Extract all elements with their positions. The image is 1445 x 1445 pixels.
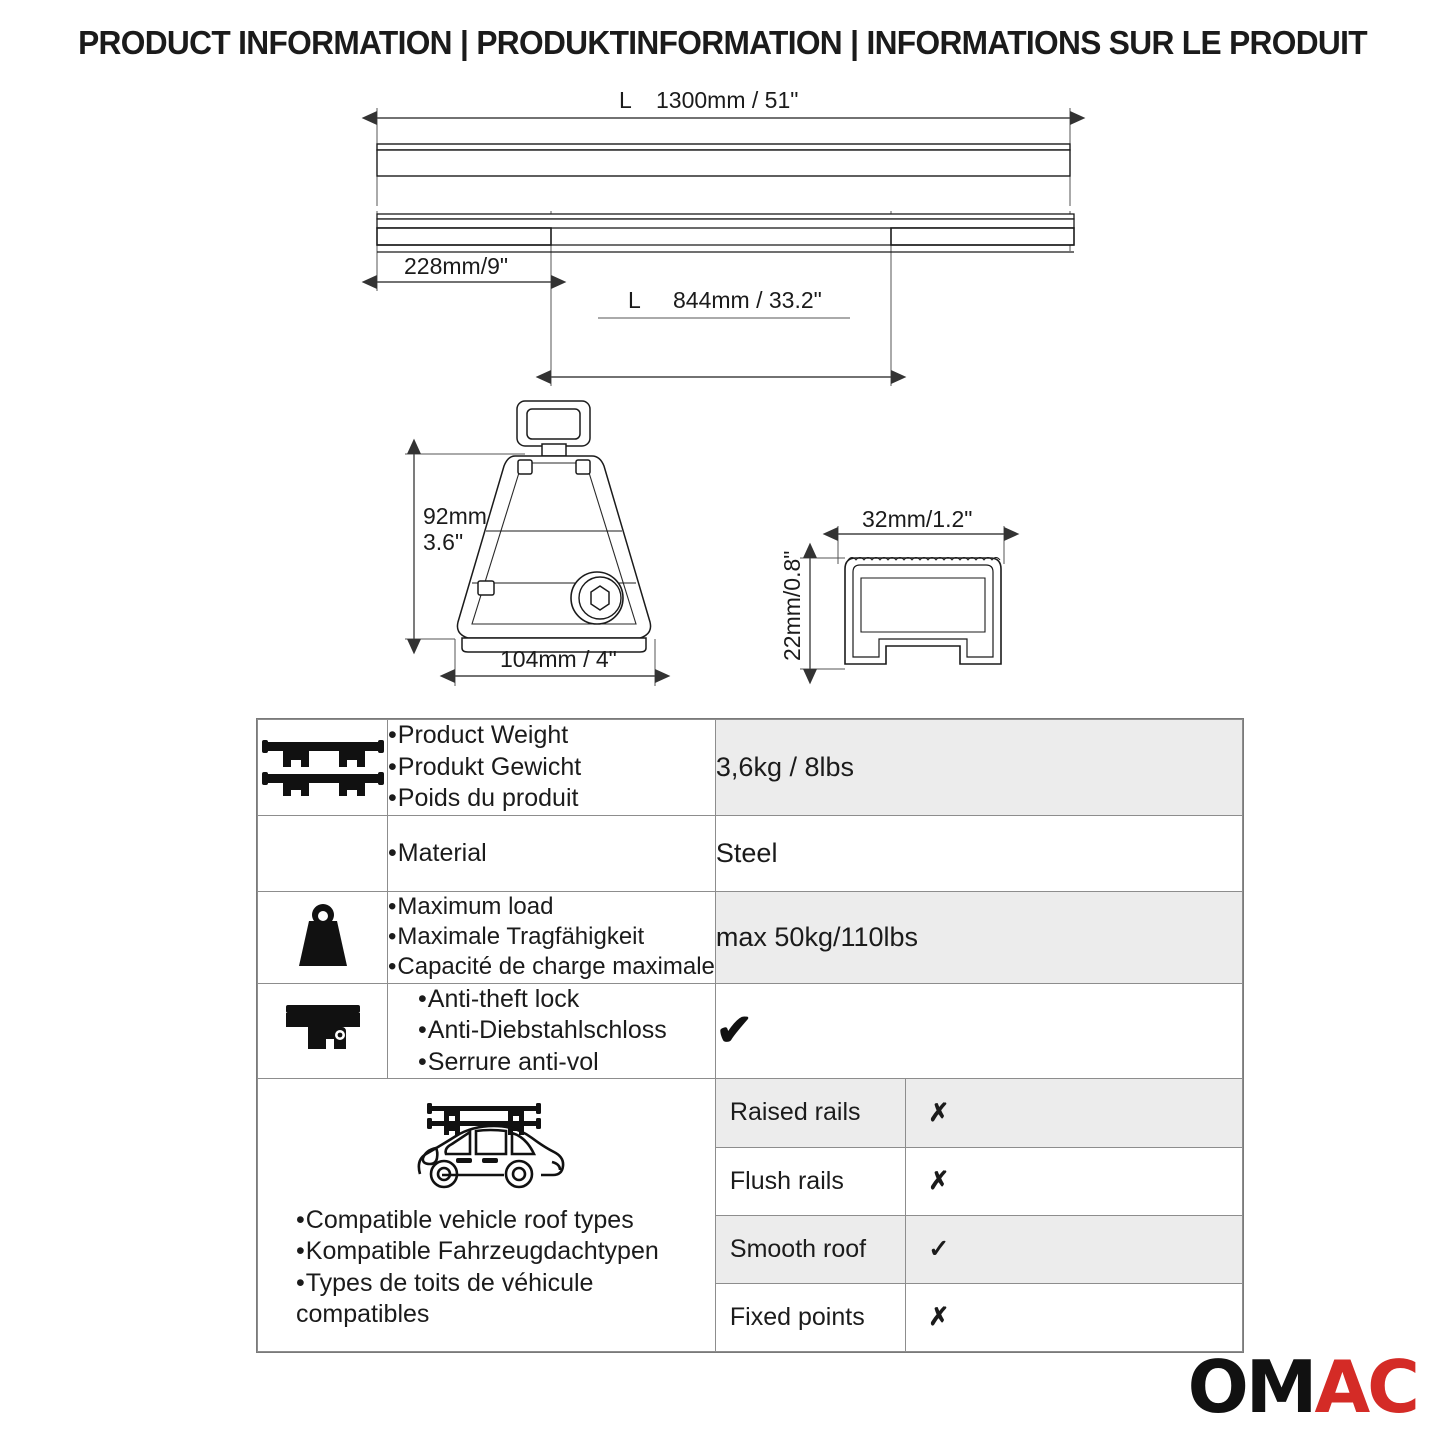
page-title: PRODUCT INFORMATION | PRODUKTINFORMATION… (29, 24, 1416, 62)
roof-type-support: ✗ (906, 1079, 1242, 1147)
lock-icon-cell (258, 983, 388, 1079)
roof-type-name: Raised rails (716, 1079, 906, 1147)
span-value: 844mm / 33.2" (673, 287, 822, 313)
label-de: Anti-Diebstahlschloss (418, 1015, 715, 1047)
max-load-labels: Maximum load Maximale Tragfähigkeit Capa… (388, 892, 716, 984)
label-de: Kompatible Fahrzeugdachtypen (296, 1236, 715, 1267)
anti-theft-value: ✔ (715, 983, 1242, 1079)
roof-type-row-raised-rails: Raised rails ✗ (716, 1079, 1242, 1147)
max-load-value: max 50kg/110lbs (715, 892, 1242, 984)
label-material: Material (388, 838, 715, 870)
vehicle-roof-types-cell: Compatible vehicle roof types Kompatible… (258, 1079, 716, 1352)
lock-icon (284, 1042, 362, 1059)
product-weight-value: 3,6kg / 8lbs (715, 720, 1242, 816)
label-en: Maximum load (388, 892, 715, 922)
table-row-max-load: Maximum load Maximale Tragfähigkeit Capa… (258, 892, 1243, 984)
material-value: Steel (715, 815, 1242, 892)
crossbars-icon-cell (258, 720, 388, 816)
label-en: Anti-theft lock (418, 984, 715, 1016)
label-en: Compatible vehicle roof types (296, 1205, 715, 1236)
logo-text-om: OM (1188, 1351, 1315, 1423)
span-prefix: L (628, 287, 641, 313)
bar-length-value: 1300mm / 51" (656, 87, 798, 113)
table-row-material: Material Steel (258, 815, 1243, 892)
label-fr: Capacité de charge maximale (388, 952, 715, 982)
label-de: Produkt Gewicht (388, 752, 715, 784)
table-row-anti-theft-lock: Anti-theft lock Anti-Diebstahlschloss Se… (258, 983, 1243, 1079)
table-row-roof-types: Compatible vehicle roof types Kompatible… (258, 1079, 1243, 1352)
table-row-product-weight: Product Weight Produkt Gewicht Poids du … (258, 720, 1243, 816)
roof-type-support: ✗ (906, 1147, 1242, 1215)
product-weight-labels: Product Weight Produkt Gewicht Poids du … (388, 720, 716, 816)
roof-type-row-flush-rails: Flush rails ✗ (716, 1147, 1242, 1215)
label-en: Product Weight (388, 720, 715, 752)
end-offset-value: 228mm/9" (404, 253, 508, 279)
roof-type-support: ✗ (906, 1283, 1242, 1351)
roof-types-table: Raised rails ✗ Flush rails ✗ Smooth roof… (716, 1079, 1242, 1351)
label-de: Maximale Tragfähigkeit (388, 922, 715, 952)
anti-theft-labels: Anti-theft lock Anti-Diebstahlschloss Se… (388, 983, 716, 1079)
weight-icon (291, 955, 355, 972)
technical-drawings: L 1300mm / 51" 228mm/9" L 844mm / 33.2" … (0, 86, 1445, 706)
label-fr: Poids du produit (388, 783, 715, 815)
roof-type-name: Fixed points (716, 1283, 906, 1351)
specification-table: Product Weight Produkt Gewicht Poids du … (256, 718, 1244, 1353)
logo-text-ac: AC (1314, 1351, 1417, 1423)
profile-width-value: 32mm/1.2" (862, 506, 972, 532)
roof-type-support: ✓ (906, 1215, 1242, 1283)
weight-icon-cell (258, 892, 388, 984)
label-fr: Types de toits de véhicule compatibles (296, 1268, 656, 1331)
car-with-roof-rack-icon (406, 1179, 566, 1196)
checkmark-icon: ✔ (716, 1006, 753, 1055)
foot-height-line2: 3.6" (423, 529, 463, 555)
roof-type-name: Flush rails (716, 1147, 906, 1215)
material-icon-cell (258, 815, 388, 892)
omac-logo: OM AC (1188, 1351, 1417, 1423)
roof-types-subtable-cell: Raised rails ✗ Flush rails ✗ Smooth roof… (715, 1079, 1242, 1352)
foot-width-value: 104mm / 4" (500, 646, 617, 672)
crossbars-icon (261, 783, 385, 800)
bar-length-prefix: L (619, 87, 632, 113)
material-labels: Material (388, 815, 716, 892)
roof-type-row-smooth-roof: Smooth roof ✓ (716, 1215, 1242, 1283)
roof-type-row-fixed-points: Fixed points ✗ (716, 1283, 1242, 1351)
label-fr: Serrure anti-vol (418, 1047, 715, 1079)
profile-height-value: 22mm/0.8" (779, 551, 805, 661)
foot-height-line1: 92mm (423, 503, 487, 529)
roof-type-name: Smooth roof (716, 1215, 906, 1283)
